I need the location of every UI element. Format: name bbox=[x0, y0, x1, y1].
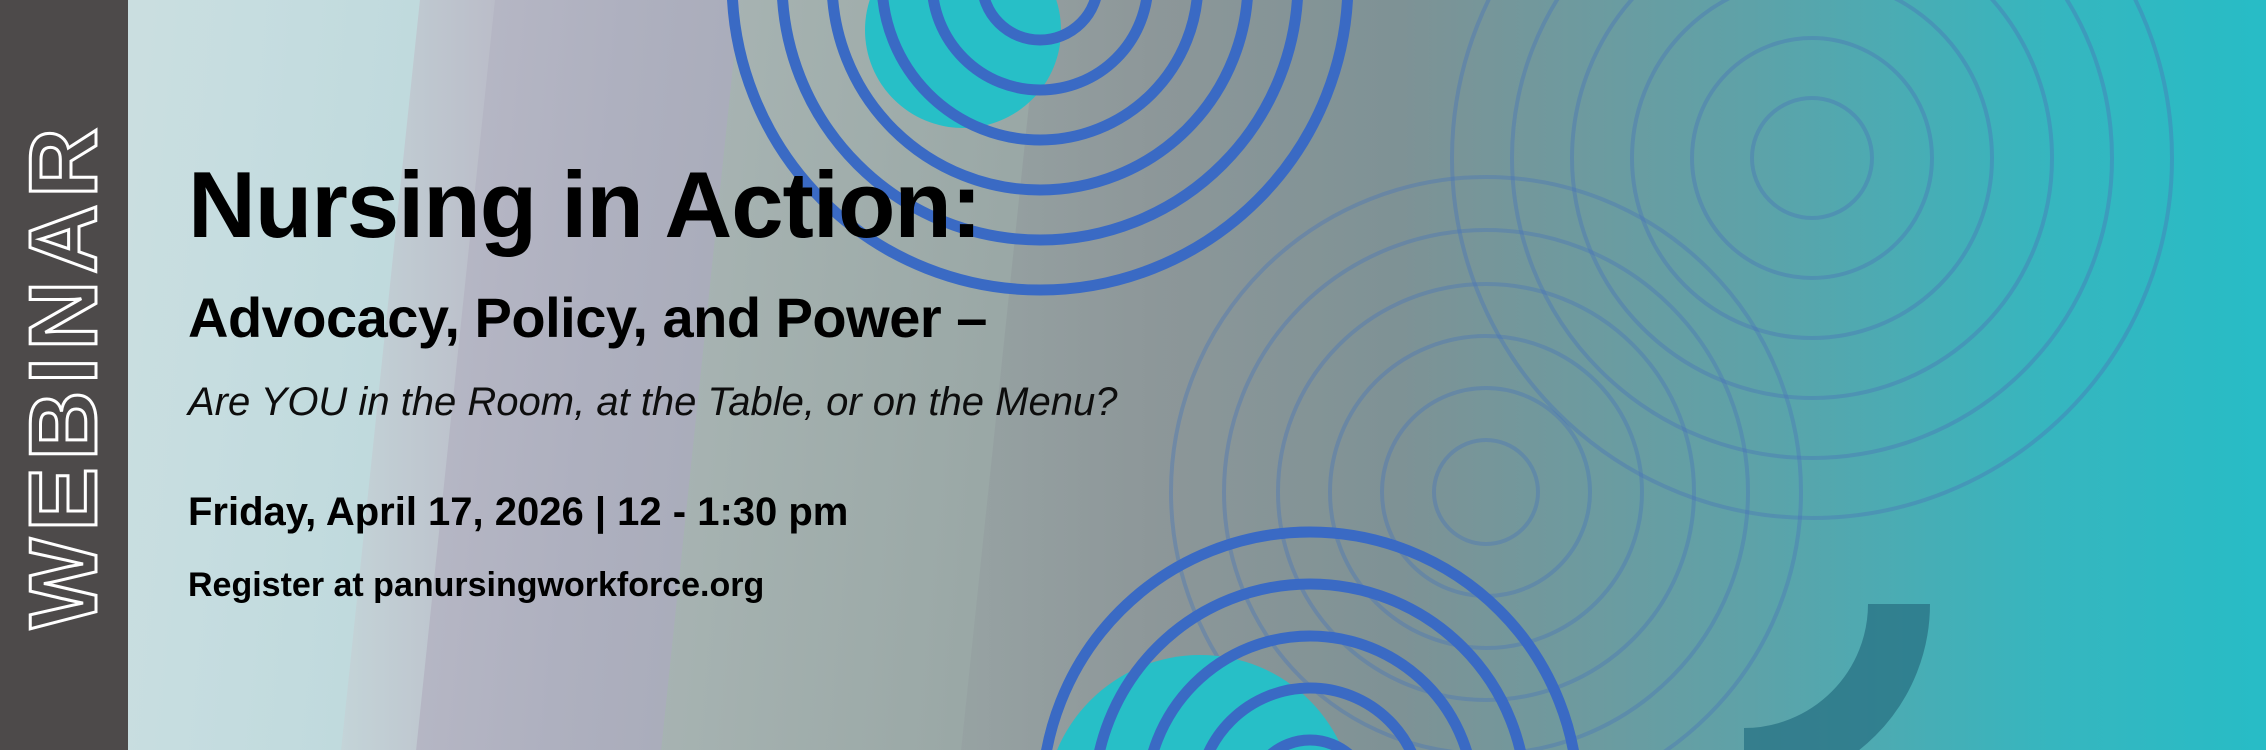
banner-text-content: Nursing in Action: Advocacy, Policy, and… bbox=[188, 0, 1688, 750]
page-tagline: Are YOU in the Room, at the Table, or on… bbox=[188, 382, 1117, 422]
page-title: Nursing in Action: bbox=[188, 158, 981, 252]
webinar-sidebar: WEBINAR bbox=[0, 0, 128, 750]
sidebar-webinar-label: WEBINAR bbox=[16, 121, 112, 629]
page-subtitle: Advocacy, Policy, and Power – bbox=[188, 290, 987, 346]
webinar-banner: WEBINAR Nursing in Action: Advocacy, Pol… bbox=[0, 0, 2266, 750]
event-datetime: Friday, April 17, 2026 | 12 - 1:30 pm bbox=[188, 492, 848, 532]
registration-link-text[interactable]: Register at panursingworkforce.org bbox=[188, 568, 764, 602]
dark-teal-quarter-arc-icon bbox=[1744, 604, 1899, 750]
